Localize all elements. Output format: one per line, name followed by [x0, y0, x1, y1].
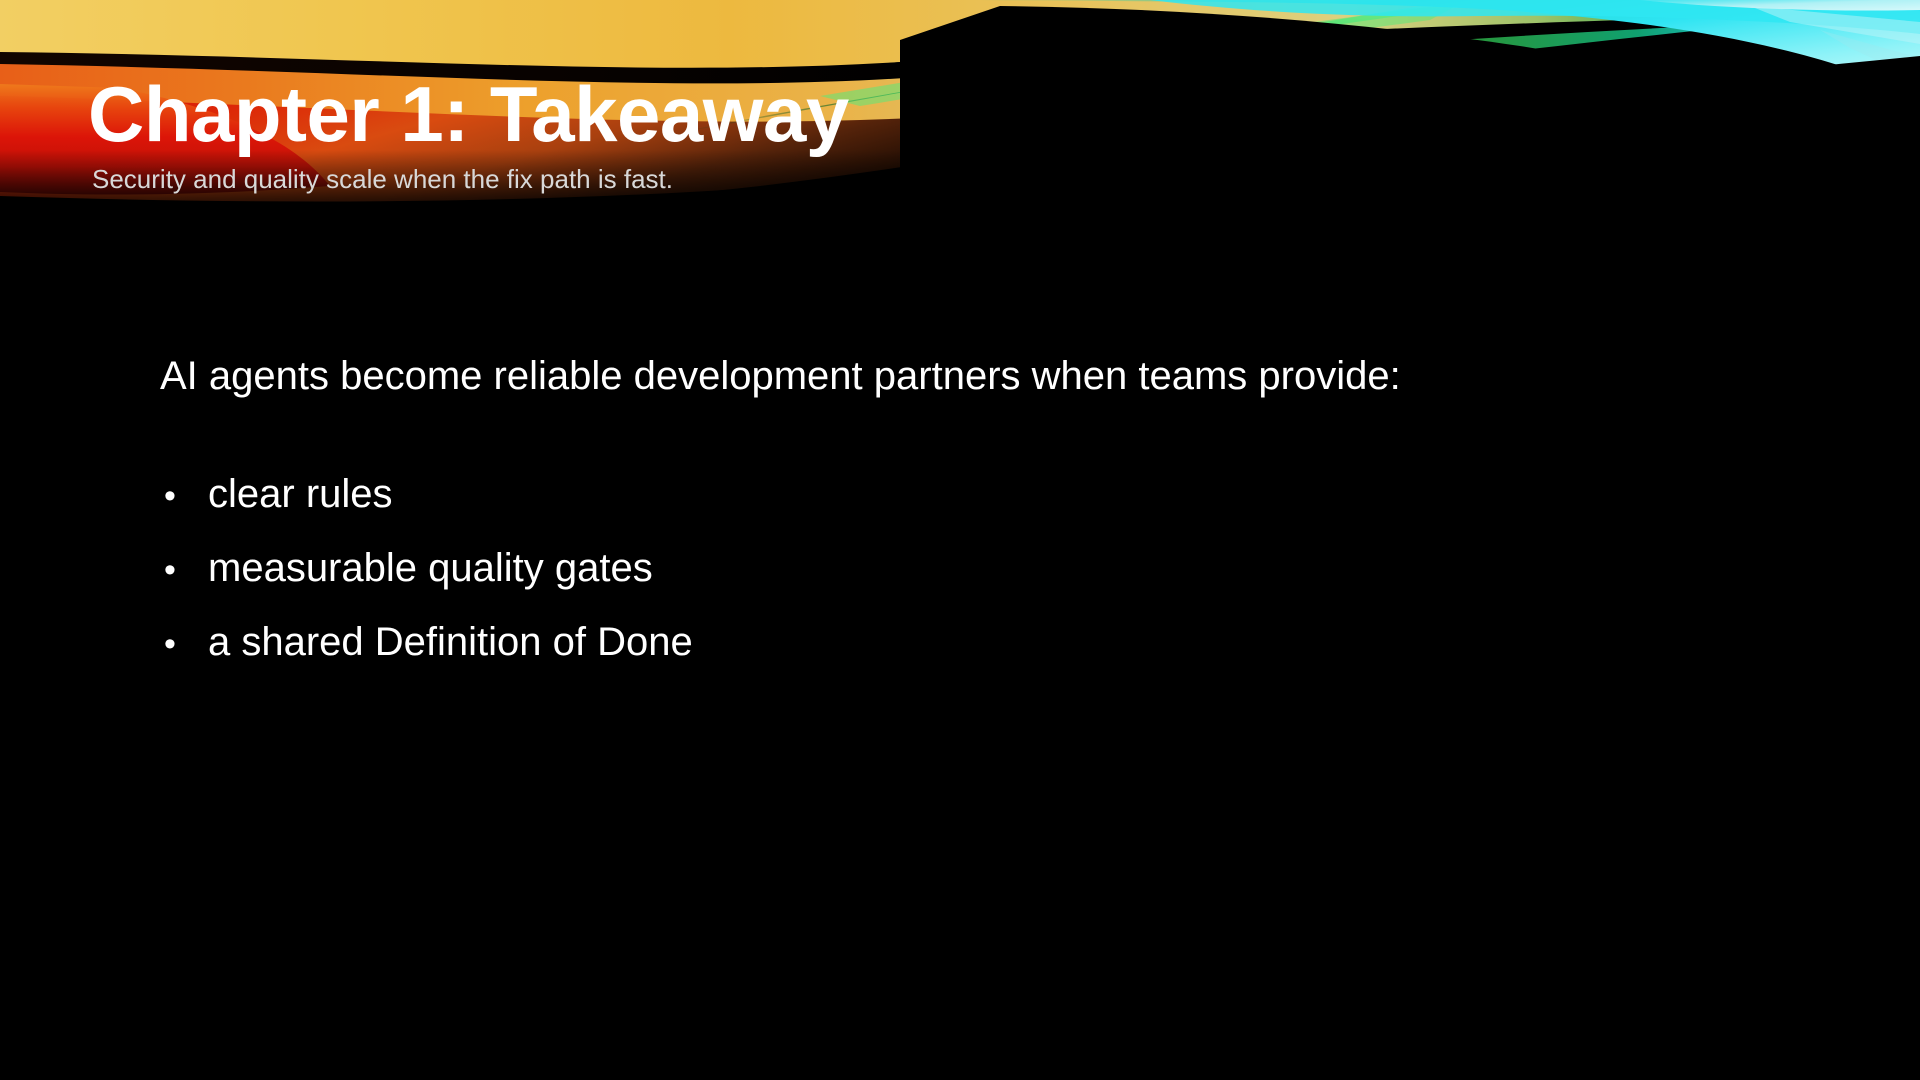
title-block: Chapter 1: Takeaway Security and quality…	[88, 72, 1588, 194]
list-item: • a shared Definition of Done	[160, 618, 1800, 668]
slide: Chapter 1: Takeaway Security and quality…	[0, 0, 1920, 1080]
page-subtitle: Security and quality scale when the fix …	[92, 164, 1588, 194]
body-content: AI agents become reliable development pa…	[160, 352, 1800, 692]
list-item-label: a shared Definition of Done	[208, 618, 1800, 666]
list-item: • measurable quality gates	[160, 544, 1800, 594]
bullet-icon: •	[160, 546, 208, 594]
bullet-icon: •	[160, 620, 208, 668]
bullet-list: • clear rules • measurable quality gates…	[160, 470, 1800, 668]
list-item-label: measurable quality gates	[208, 544, 1800, 592]
bullet-icon: •	[160, 472, 208, 520]
lead-line: AI agents become reliable development pa…	[160, 352, 1800, 400]
page-title: Chapter 1: Takeaway	[88, 72, 1588, 156]
list-item: • clear rules	[160, 470, 1800, 520]
list-item-label: clear rules	[208, 470, 1800, 518]
